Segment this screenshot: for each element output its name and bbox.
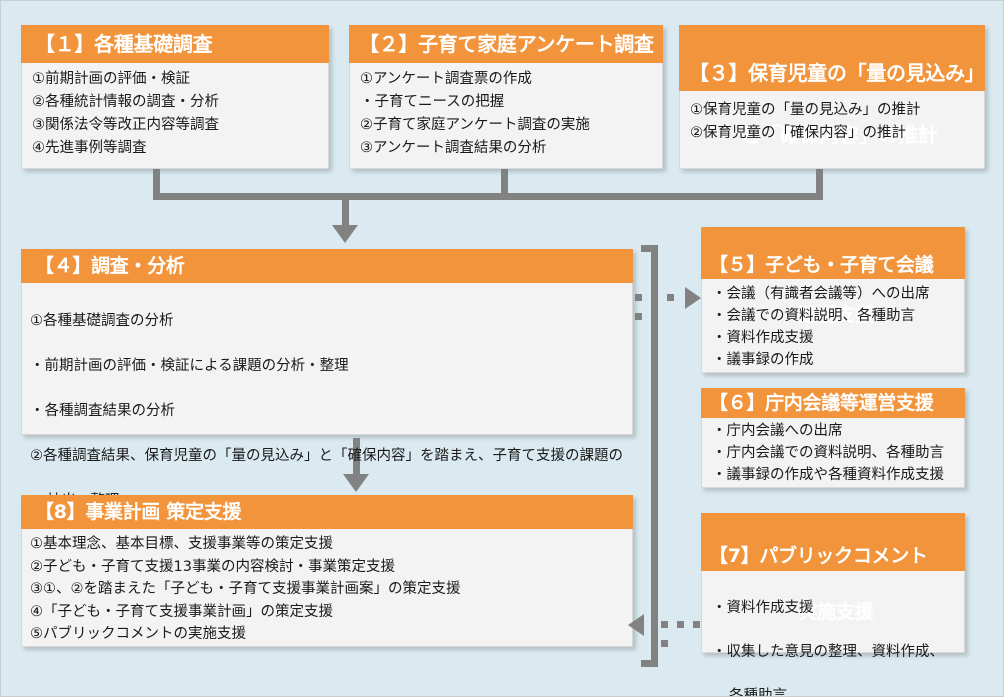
step-box-3[interactable]: 【３】保育児童の「量の見込み」 と「確保内容」の推計 ①保育児童の「量の見込み」… bbox=[679, 25, 985, 169]
flowchart-canvas: 【１】各種基礎調査 ①前期計画の評価・検証 ②各種統計情報の調査・分析 ③関係法… bbox=[0, 0, 1004, 697]
step-box-3-header-line1: 【３】保育児童の「量の見込み」 bbox=[689, 58, 975, 89]
step-box-1-header: 【１】各種基礎調査 bbox=[21, 25, 329, 63]
step-box-6[interactable]: 【６】庁内会議等運営支援 ・庁内会議への出席 ・庁内会議での資料説明、各種助言 … bbox=[701, 388, 965, 488]
step-box-6-header: 【６】庁内会議等運営支援 bbox=[701, 388, 965, 418]
arrow-down-icon-to-box4 bbox=[332, 225, 358, 243]
step-box-5-header-line1: 【５】子ども・子育て会議 bbox=[709, 253, 957, 278]
step-box-4[interactable]: 【４】調査・分析 ①各種基礎調査の分析 ・前期計画の評価・検証による課題の分析・… bbox=[21, 249, 633, 435]
step-box-3-header: 【３】保育児童の「量の見込み」 と「確保内容」の推計 bbox=[679, 25, 985, 91]
connector-stem-to-box4 bbox=[342, 193, 349, 227]
connector-horizontal-bus bbox=[153, 193, 823, 200]
step-box-5[interactable]: 【５】子ども・子育て会議 運営支援 ・会議（有識者会議等）への出席 ・会議での資… bbox=[701, 227, 965, 373]
step-box-1-body: ①前期計画の評価・検証 ②各種統計情報の調査・分析 ③関係法令等改正内容等調査 … bbox=[21, 63, 329, 169]
step-box-7-header: 【7】パブリックコメント 実施支援 bbox=[701, 513, 965, 571]
step-box-8[interactable]: 【8】事業計画 策定支援 ①基本理念、基本目標、支援事業等の策定支援 ②子ども・… bbox=[21, 495, 633, 647]
arrow-left-icon-to-box8 bbox=[628, 614, 644, 636]
step-box-4-line-3: ・各種調査結果の分析 bbox=[30, 400, 624, 423]
connector-bracket-hook-bottom bbox=[641, 660, 658, 667]
connector-bracket-hook-top bbox=[641, 245, 658, 252]
step-box-7[interactable]: 【7】パブリックコメント 実施支援 ・資料作成支援 ・収集した意見の整理、資料作… bbox=[701, 513, 965, 653]
step-box-6-body: ・庁内会議への出席 ・庁内会議での資料説明、各種助言 ・議事録の作成や各種資料作… bbox=[701, 418, 965, 488]
step-box-4-line-1: ①各種基礎調査の分析 bbox=[30, 310, 624, 333]
step-box-4-body: ①各種基礎調査の分析 ・前期計画の評価・検証による課題の分析・整理 ・各種調査結… bbox=[21, 283, 633, 435]
dotted-leader-to-box5 bbox=[635, 294, 691, 301]
step-box-4-header: 【４】調査・分析 bbox=[21, 249, 633, 283]
connector-vertical-bracket bbox=[651, 245, 658, 667]
step-box-4-line-4: ②各種調査結果、保育児童の「量の見込み」と「確保内容」を踏まえ、子育て支援の課題… bbox=[30, 445, 624, 468]
step-box-3-body: ①保育児童の「量の見込み」の推計 ②保育児童の「確保内容」の推計 bbox=[679, 91, 985, 169]
step-box-5-body: ・会議（有識者会議等）への出席 ・会議での資料説明、各種助言 ・資料作成支援 ・… bbox=[701, 279, 965, 373]
step-box-5-header: 【５】子ども・子育て会議 運営支援 bbox=[701, 227, 965, 279]
step-box-7-line-2: ・収集した意見の整理、資料作成、 bbox=[712, 641, 964, 663]
step-box-8-header: 【8】事業計画 策定支援 bbox=[21, 495, 633, 529]
step-box-8-body: ①基本理念、基本目標、支援事業等の策定支援 ②子ども・子育て支援13事業の内容検… bbox=[21, 529, 633, 647]
step-box-4-line-2: ・前期計画の評価・検証による課題の分析・整理 bbox=[30, 355, 624, 378]
step-box-7-line-2-continued: 各種助言 bbox=[712, 685, 964, 697]
step-box-2-header: 【２】子育て家庭アンケート調査 bbox=[349, 25, 663, 63]
step-box-2[interactable]: 【２】子育て家庭アンケート調査 ①アンケート調査票の作成 ・子育てニースの把握 … bbox=[349, 25, 663, 169]
step-box-1[interactable]: 【１】各種基礎調査 ①前期計画の評価・検証 ②各種統計情報の調査・分析 ③関係法… bbox=[21, 25, 329, 169]
step-box-2-body: ①アンケート調査票の作成 ・子育てニースの把握 ②子育て家庭アンケート調査の実施… bbox=[349, 63, 663, 169]
step-box-7-header-line1: 【7】パブリックコメント bbox=[709, 542, 957, 570]
arrow-right-icon-to-box5 bbox=[685, 287, 701, 309]
